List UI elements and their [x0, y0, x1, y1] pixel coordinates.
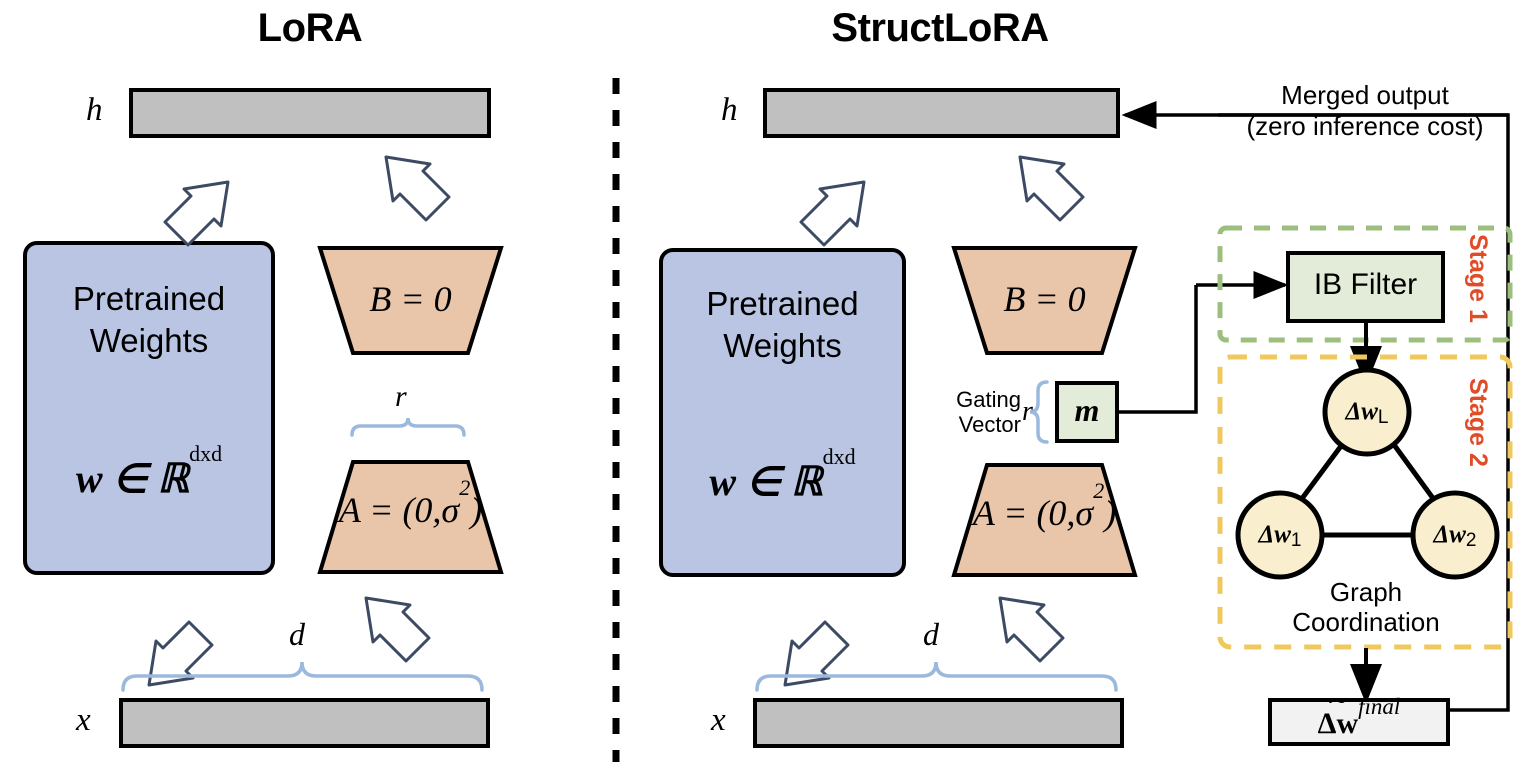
block-arrow-up-left-4	[366, 598, 429, 661]
merged-line1: Merged output	[1281, 80, 1449, 110]
weight-formula-right: w ∈ ℝdxd	[661, 458, 904, 505]
b-matrix-label-right: B = 0	[954, 278, 1135, 320]
block-arrow-up-left-2	[386, 157, 449, 220]
pretrained-weights-label-right: Pretrained Weights	[661, 283, 904, 367]
dim-r-label-left: r	[395, 380, 407, 414]
pretrained-line1: Pretrained	[706, 285, 858, 322]
graph-node-w1-label: Δw1	[1238, 521, 1322, 552]
x-input-bar-right	[755, 700, 1122, 746]
weight-formula-left: w ∈ ℝdxd	[25, 455, 273, 502]
block-arrow-up-right-4	[1000, 598, 1063, 661]
final-sup: final	[1358, 694, 1400, 719]
h-output-bar-right	[765, 90, 1118, 136]
graph-node-wL-label: ΔwL	[1325, 398, 1409, 429]
weight-formula-exponent: dxd	[823, 444, 856, 469]
merged-output-label: Merged output (zero inference cost)	[1200, 80, 1530, 141]
graph-line2: Coordination	[1292, 607, 1439, 637]
graph-coordination-label: Graph Coordination	[1248, 578, 1484, 638]
node-sub: 1	[1291, 530, 1302, 551]
left-panel-title: LoRA	[110, 6, 510, 51]
stage2-label: Stage 2	[1463, 378, 1492, 467]
figure-canvas: LoRA h x Pretrained Weights w ∈ ℝdxd B =…	[0, 0, 1532, 772]
a-matrix-base: A = (0,σ	[973, 493, 1093, 533]
right-panel-title: StructLoRA	[740, 6, 1140, 51]
h-label-right: h	[721, 92, 738, 129]
a-matrix-base: A = (0,σ	[339, 490, 459, 530]
node-sub: L	[1378, 407, 1389, 428]
a-matrix-exponent: 2	[1093, 478, 1104, 503]
weight-formula-exponent: dxd	[189, 441, 222, 466]
brace-r-left	[352, 418, 464, 435]
final-base: Δw	[1318, 707, 1358, 741]
pretrained-weights-label-left: Pretrained Weights	[25, 278, 273, 362]
stage1-label: Stage 1	[1463, 234, 1492, 323]
node-sub: 2	[1466, 530, 1477, 551]
final-delta-w-label: Δwfinal	[1270, 707, 1448, 741]
graph-node-w2-label: Δw2	[1413, 521, 1497, 552]
ib-filter-label: IB Filter	[1288, 268, 1443, 302]
weight-formula-base: w ∈ ℝ	[709, 459, 822, 504]
dim-d-label-right: d	[923, 616, 939, 653]
node-base: Δw	[1259, 521, 1291, 548]
a-matrix-tail: )	[1104, 493, 1116, 533]
gating-line2: Vector	[959, 412, 1021, 437]
x-label-left: x	[76, 702, 91, 739]
dim-d-label-left: d	[289, 616, 305, 653]
graph-line1: Graph	[1330, 577, 1402, 607]
block-arrow-up-left-1	[165, 182, 228, 245]
node-base: Δw	[1346, 398, 1378, 425]
a-matrix-label-right: A = (0,σ2)	[954, 492, 1135, 534]
h-label-left: h	[86, 92, 103, 129]
block-arrow-up-right-2	[1020, 157, 1083, 220]
dim-r-label-right: r	[1022, 396, 1033, 428]
gating-vector-label: Gating Vector	[925, 388, 1021, 437]
node-base: Δw	[1434, 521, 1466, 548]
pretrained-line2: Weights	[90, 322, 209, 359]
gating-line1: Gating	[956, 387, 1021, 412]
x-input-bar-left	[121, 700, 488, 746]
a-matrix-tail: )	[470, 490, 482, 530]
b-matrix-label-left: B = 0	[320, 278, 501, 320]
a-matrix-exponent: 2	[459, 475, 470, 500]
x-label-right: x	[711, 702, 726, 739]
weight-formula-base: w ∈ ℝ	[76, 456, 189, 501]
pretrained-line2: Weights	[723, 327, 842, 364]
gating-symbol-label: m	[1057, 392, 1117, 429]
block-arrow-up-right-1	[801, 182, 864, 245]
pretrained-line1: Pretrained	[73, 280, 225, 317]
h-output-bar-left	[131, 90, 489, 136]
a-matrix-label-left: A = (0,σ2)	[320, 489, 501, 531]
merged-line2: (zero inference cost)	[1247, 111, 1484, 141]
